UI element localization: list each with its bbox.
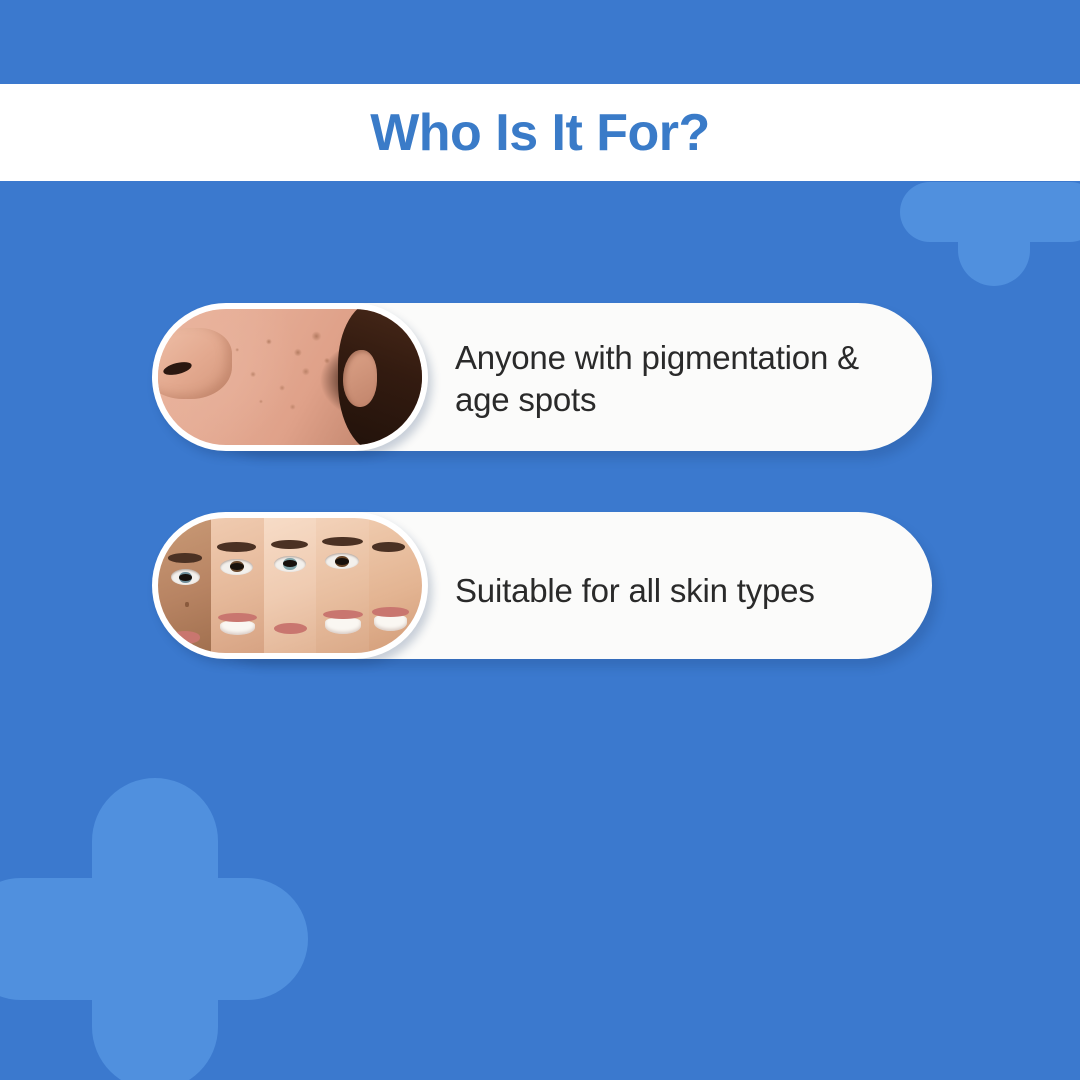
lips xyxy=(372,607,409,616)
eyebrow xyxy=(168,553,203,562)
card-label: Anyone with pigmentation & age spots xyxy=(455,337,915,421)
lips xyxy=(170,631,201,643)
card-thumbnail xyxy=(152,303,428,451)
skin-types-collage-photo xyxy=(158,518,422,653)
face-strip xyxy=(316,518,369,653)
lips xyxy=(274,623,307,634)
face-skin xyxy=(369,518,422,653)
pupil xyxy=(230,563,244,570)
teeth xyxy=(325,618,361,634)
face-strip xyxy=(369,518,422,653)
age-spots-overlay xyxy=(158,309,422,445)
photo-faces-collage xyxy=(158,518,422,653)
mole xyxy=(185,602,188,607)
eye xyxy=(274,556,306,572)
face-strip xyxy=(211,518,264,653)
eyebrow xyxy=(271,540,308,549)
benefit-card-list: Anyone with pigmentation & age spots xyxy=(0,0,1080,1080)
poster-canvas: Who Is It For? Anyone with pigmentation … xyxy=(0,0,1080,1080)
photo-skin-closeup xyxy=(158,309,422,445)
pupil xyxy=(335,558,349,565)
card-thumbnail xyxy=(152,512,428,659)
eyebrow xyxy=(217,542,256,551)
lips xyxy=(323,610,363,619)
lips xyxy=(218,613,257,622)
face-strip xyxy=(264,518,317,653)
card-label: Suitable for all skin types xyxy=(455,570,915,612)
pupil xyxy=(179,574,191,581)
eye xyxy=(325,553,359,569)
eye xyxy=(220,559,253,575)
face-strip xyxy=(158,518,211,653)
skin-pigmentation-photo xyxy=(158,309,422,445)
eyebrow xyxy=(372,542,405,551)
